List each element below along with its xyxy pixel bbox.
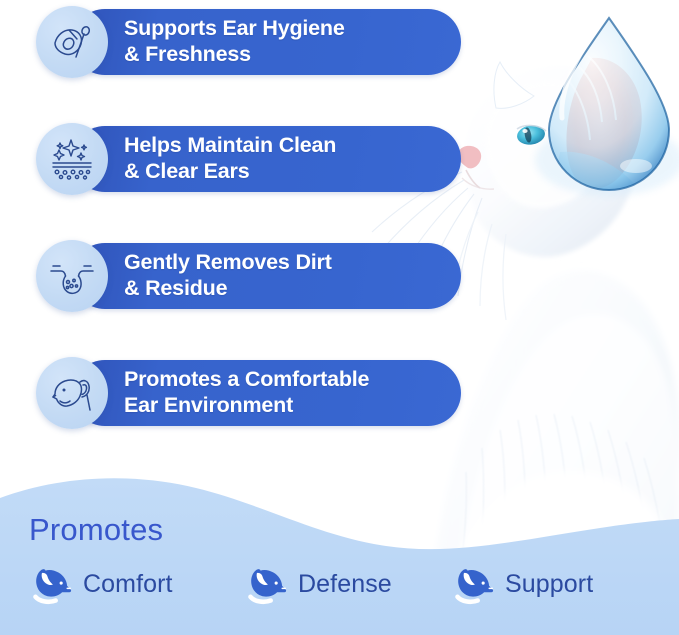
promotes-banner: Promotes Comfort	[0, 470, 679, 635]
pill-label: Helps Maintain Clean & Clear Ears	[124, 133, 336, 185]
dog-head-badge-icon	[245, 562, 289, 606]
promo-item-comfort[interactable]: Comfort	[30, 558, 173, 610]
cheek-fur	[454, 212, 506, 320]
water-droplet-magnifier	[535, 10, 679, 212]
dog-head-badge-icon	[452, 562, 496, 606]
cat-eye	[516, 123, 547, 146]
banner-heading: Promotes	[29, 512, 163, 548]
dog-head-badge-icon	[30, 562, 74, 606]
pill-label: Supports Ear Hygiene & Freshness	[124, 16, 345, 68]
promo-item-list: Comfort Defense	[0, 558, 679, 610]
feature-pill-removes-dirt[interactable]: Gently Removes Dirt & Residue	[36, 240, 461, 312]
promo-item-defense[interactable]: Defense	[245, 558, 392, 610]
feature-pill-comfortable-ear[interactable]: Promotes a Comfortable Ear Environment	[36, 357, 461, 429]
promo-item-support[interactable]: Support	[452, 558, 593, 610]
promo-label: Support	[505, 570, 593, 599]
pore-dirt-particles-icon	[36, 240, 108, 312]
pill-label: Promotes a Comfortable Ear Environment	[124, 367, 369, 419]
cat-head	[464, 66, 637, 257]
feature-pill-clean-clear-ears[interactable]: Helps Maintain Clean & Clear Ears	[36, 123, 461, 195]
ear-swab-icon	[36, 6, 108, 78]
promo-label: Comfort	[83, 570, 173, 599]
cat-ear-near	[494, 62, 534, 108]
feature-graphic: Supports Ear Hygiene & Freshness Helps M…	[0, 0, 679, 635]
pill-label: Gently Removes Dirt & Residue	[124, 250, 332, 302]
banner-wave-shape	[0, 470, 679, 635]
sparkle-clean-surface-icon	[36, 123, 108, 195]
feature-pill-ear-hygiene[interactable]: Supports Ear Hygiene & Freshness	[36, 6, 461, 78]
promo-label: Defense	[298, 570, 392, 599]
dog-head-ear-icon	[36, 357, 108, 429]
cat-muzzle	[458, 146, 494, 189]
